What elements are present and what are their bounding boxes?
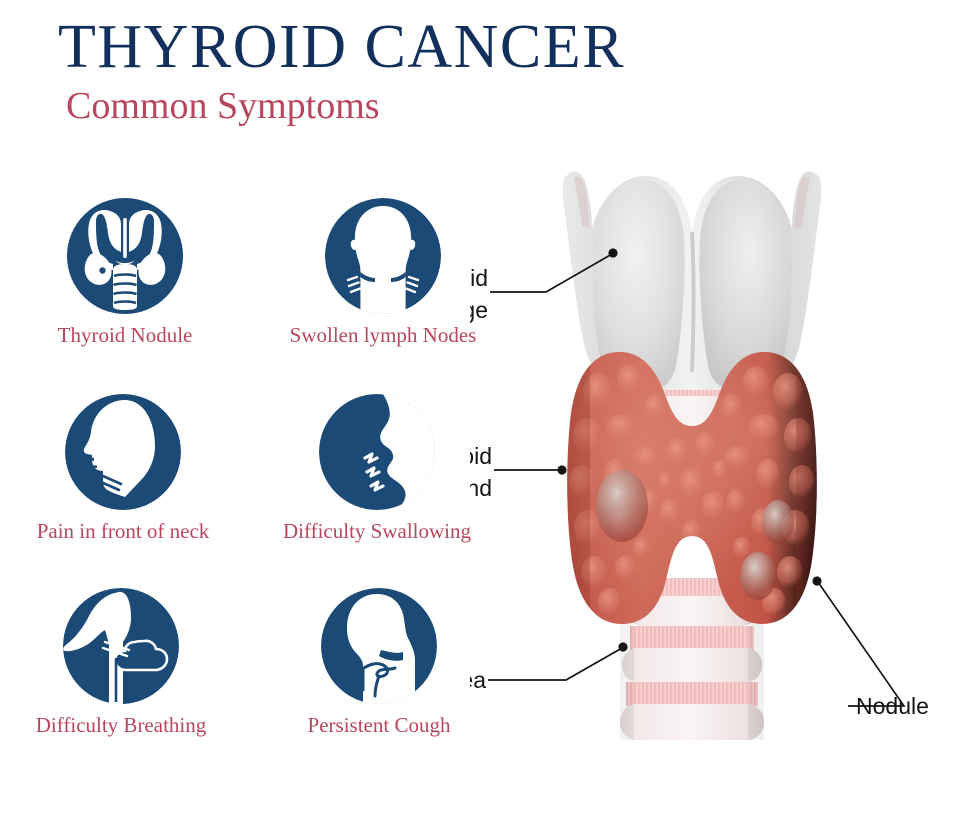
symptom-label: Pain in front of neck <box>0 520 248 543</box>
label-trachea-text: Trachea <box>470 667 486 693</box>
head-profile-pain-icon <box>63 392 183 512</box>
symptom-label: Thyroid Nodule <box>0 324 250 347</box>
label-nodule: Nodule <box>856 693 929 719</box>
label-thyroid-cartilage-line1: Thyroid <box>470 265 488 291</box>
dot-nodule <box>812 576 821 585</box>
symptom-grid: Thyroid Nodule <box>0 196 520 786</box>
nodule-right-upper <box>762 500 794 544</box>
symptom-item-difficulty-breathing[interactable]: Difficulty Breathing <box>0 586 246 737</box>
symptom-label: Difficulty Swallowing <box>252 520 502 543</box>
dot-trachea <box>618 642 627 651</box>
label-thyroid-cartilage-line2: cartilage <box>470 297 488 323</box>
thyroid-gland-icon <box>65 196 185 316</box>
head-neck-nodes-icon <box>323 196 443 316</box>
nodule-right-lower <box>740 552 776 600</box>
label-thyroid-cartilage: Thyroid cartilage <box>470 265 488 323</box>
head-breath-cloud-icon <box>61 586 181 706</box>
label-thyroid-gland-line2: gland <box>470 475 492 501</box>
symptom-item-persistent-cough[interactable]: Persistent Cough <box>254 586 504 737</box>
label-thyroid-gland-line1: Thyroid <box>470 443 492 469</box>
label-trachea: Trachea <box>470 667 486 693</box>
thyroid-cancer-infographic: THYROID CANCER Common Symptoms <box>0 0 960 834</box>
head-cough-icon <box>319 586 439 706</box>
symptom-item-difficulty-swallowing[interactable]: Difficulty Swallowing <box>252 392 502 543</box>
nodule-left <box>596 470 648 542</box>
label-nodule-text: Nodule <box>856 693 929 719</box>
symptom-label: Difficulty Breathing <box>0 714 246 737</box>
symptom-label: Persistent Cough <box>254 714 504 737</box>
page-subtitle: Common Symptoms <box>66 87 698 127</box>
throat-swallow-icon <box>317 392 437 512</box>
page-title: THYROID CANCER <box>58 16 698 79</box>
header: THYROID CANCER Common Symptoms <box>58 16 698 127</box>
symptom-item-thyroid-nodule[interactable]: Thyroid Nodule <box>0 196 250 347</box>
symptom-item-pain-in-front-of-neck[interactable]: Pain in front of neck <box>0 392 248 543</box>
label-thyroid-gland: Thyroid gland <box>470 443 492 501</box>
dot-thyroid-cartilage <box>608 248 617 257</box>
dot-thyroid-gland <box>557 465 566 474</box>
thyroid-anatomy-illustration: Thyroid cartilage Thyroid gland Trachea … <box>470 140 960 760</box>
